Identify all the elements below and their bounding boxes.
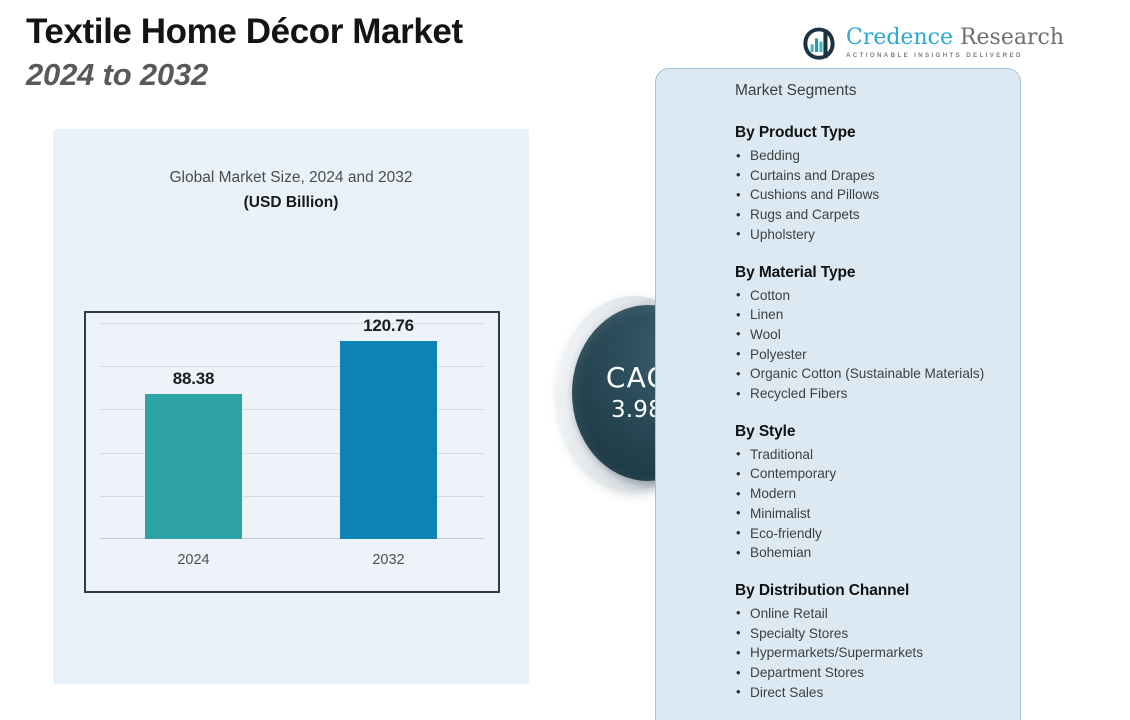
chart-caption-units: (USD Billion) (53, 190, 529, 216)
segment-groups-container: By Product TypeBeddingCurtains and Drape… (735, 122, 1020, 702)
segment-group: By Material TypeCottonLinenWoolPolyester… (735, 262, 1020, 404)
market-segments-title: Market Segments (735, 78, 1020, 104)
segment-group: By Distribution ChannelOnline RetailSpec… (735, 580, 1020, 703)
page-title-main: Textile Home Décor Market (26, 10, 646, 54)
segment-item: Eco-friendly (735, 524, 1020, 544)
segment-item: Organic Cotton (Sustainable Materials) (735, 364, 1020, 384)
segment-item: Upholstery (735, 225, 1020, 245)
segment-item: Hypermarkets/Supermarkets (735, 643, 1020, 663)
bar-value-2032: 120.76 (300, 316, 477, 336)
segment-heading: By Style (735, 421, 1020, 443)
segment-item: Recycled Fibers (735, 384, 1020, 404)
circle-bar-chart-icon (801, 26, 837, 62)
logo-word-credence: Credence (846, 25, 953, 50)
bar-2032 (340, 341, 437, 539)
segment-item: Traditional (735, 445, 1020, 465)
segment-group: By Product TypeBeddingCurtains and Drape… (735, 122, 1020, 245)
segment-item: Rugs and Carpets (735, 205, 1020, 225)
chart-caption-title: Global Market Size, 2024 and 2032 (53, 166, 529, 190)
segment-item: Cotton (735, 286, 1020, 306)
segment-heading: By Product Type (735, 122, 1020, 144)
bar-chart: 88.38 2024 120.76 2032 (84, 311, 500, 593)
segment-item: Linen (735, 305, 1020, 325)
page-title-years: 2024 to 2032 (26, 54, 646, 96)
bar-value-2024: 88.38 (105, 369, 282, 389)
market-segments-panel: Market Segments By Product TypeBeddingCu… (655, 68, 1021, 720)
segment-group: By StyleTraditionalContemporaryModernMin… (735, 421, 1020, 563)
segment-item: Wool (735, 325, 1020, 345)
segment-item: Contemporary (735, 464, 1020, 484)
segment-item: Modern (735, 484, 1020, 504)
segment-item: Bohemian (735, 543, 1020, 563)
logo-word-research: Research (960, 25, 1064, 50)
logo-text: Credence Research Actionable Insights De… (846, 26, 1064, 62)
bar-column-2032: 120.76 2032 (340, 341, 437, 539)
segment-item: Direct Sales (735, 683, 1020, 703)
segment-heading: By Material Type (735, 262, 1020, 284)
segment-item: Curtains and Drapes (735, 166, 1020, 186)
page-title: Textile Home Décor Market 2024 to 2032 (26, 10, 646, 96)
bar-label-2032: 2032 (300, 552, 477, 568)
bar-column-2024: 88.38 2024 (145, 394, 242, 539)
segment-item: Specialty Stores (735, 624, 1020, 644)
segment-item: Minimalist (735, 504, 1020, 524)
segment-item: Online Retail (735, 604, 1020, 624)
bar-2024 (145, 394, 242, 539)
segment-item: Cushions and Pillows (735, 185, 1020, 205)
logo-tagline: Actionable Insights Delivered (846, 50, 1064, 62)
segment-item: Polyester (735, 345, 1020, 365)
brand-logo: Credence Research Actionable Insights De… (801, 26, 1064, 62)
logo-wordmark: Credence Research (846, 26, 1064, 50)
segment-heading: By Distribution Channel (735, 580, 1020, 602)
market-size-panel: Global Market Size, 2024 and 2032 (USD B… (53, 129, 529, 684)
segment-item: Bedding (735, 146, 1020, 166)
chart-caption: Global Market Size, 2024 and 2032 (USD B… (53, 166, 529, 216)
segment-item: Department Stores (735, 663, 1020, 683)
bar-label-2024: 2024 (105, 552, 282, 568)
